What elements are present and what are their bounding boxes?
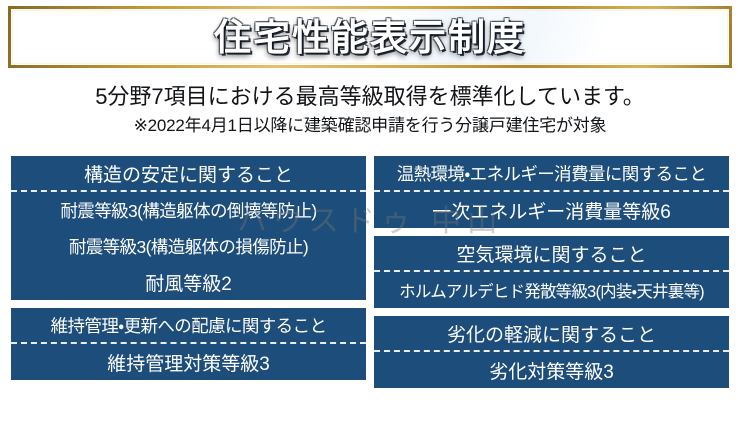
category-item: ホルムアルデヒド発散等級3(内装・天井裏等) xyxy=(374,272,729,308)
category-item: 維持管理対策等級3 xyxy=(11,344,366,380)
category-header: 劣化の軽減に関すること xyxy=(374,316,729,352)
subtitle-main-text: 5分野7項目における最高等級取得を標準化しています。 xyxy=(0,74,740,112)
table-right-column: 温熱環境・エネルギー消費量に関すること 一次エネルギー消費量等級6 空気環境に関… xyxy=(373,155,730,389)
category-group-air: 空気環境に関すること ホルムアルデヒド発散等級3(内装・天井裏等) xyxy=(373,235,730,309)
category-header: 空気環境に関すること xyxy=(374,236,729,272)
category-group-maintenance: 維持管理・更新への配慮に関すること 維持管理対策等級3 xyxy=(10,307,367,381)
category-group-thermal: 温熱環境・エネルギー消費量に関すること 一次エネルギー消費量等級6 xyxy=(373,155,730,229)
category-header: 温熱環境・エネルギー消費量に関すること xyxy=(374,156,729,192)
category-item: 耐風等級2 xyxy=(11,264,366,300)
title-banner: 住宅性能表示制度 xyxy=(0,0,740,74)
category-item: 耐震等級3(構造躯体の損傷防止) xyxy=(11,228,366,264)
category-item: 一次エネルギー消費量等級6 xyxy=(374,192,729,228)
title-banner-frame: 住宅性能表示制度 xyxy=(8,6,732,68)
category-group-structure: 構造の安定に関すること 耐震等級3(構造躯体の倒壊等防止) 耐震等級3(構造躯体… xyxy=(10,155,367,301)
subtitle-area: 5分野7項目における最高等級取得を標準化しています。 ※2022年4月1日以降に… xyxy=(0,74,740,139)
performance-table: 構造の安定に関すること 耐震等級3(構造躯体の倒壊等防止) 耐震等級3(構造躯体… xyxy=(10,155,730,389)
subtitle-note-text: ※2022年4月1日以降に建築確認申請を行う分譲戸建住宅が対象 xyxy=(0,112,740,139)
category-item: 劣化対策等級3 xyxy=(374,352,729,388)
category-item: 耐震等級3(構造躯体の倒壊等防止) xyxy=(11,192,366,228)
category-header: 維持管理・更新への配慮に関すること xyxy=(11,308,366,344)
page-title: 住宅性能表示制度 xyxy=(214,19,526,56)
category-group-degradation: 劣化の軽減に関すること 劣化対策等級3 xyxy=(373,315,730,389)
category-header: 構造の安定に関すること xyxy=(11,156,366,192)
table-left-column: 構造の安定に関すること 耐震等級3(構造躯体の倒壊等防止) 耐震等級3(構造躯体… xyxy=(10,155,367,389)
